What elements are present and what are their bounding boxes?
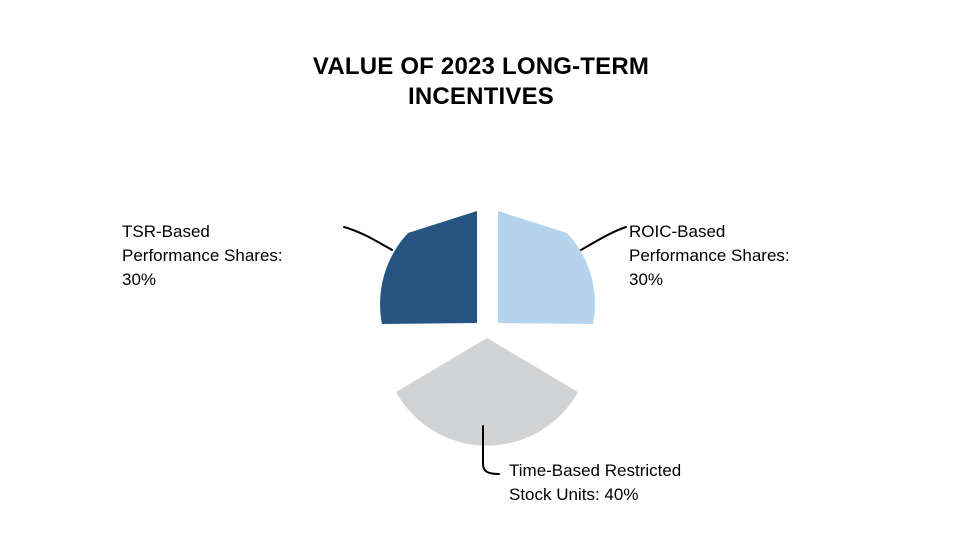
pie-chart-figure: VALUE OF 2023 LONG-TERM INCENTIVES TSR-B… xyxy=(0,0,962,538)
leader-line-roic xyxy=(581,227,626,250)
pie-slice-tsr[interactable] xyxy=(380,211,477,324)
slice-label-roic: ROIC-Based Performance Shares: 30% xyxy=(629,220,869,292)
pie-slice-rsu[interactable] xyxy=(396,338,578,446)
slice-label-tsr: TSR-Based Performance Shares: 30% xyxy=(122,220,352,292)
pie-slice-roic[interactable] xyxy=(498,211,595,324)
slice-label-rsu: Time-Based Restricted Stock Units: 40% xyxy=(509,459,769,507)
